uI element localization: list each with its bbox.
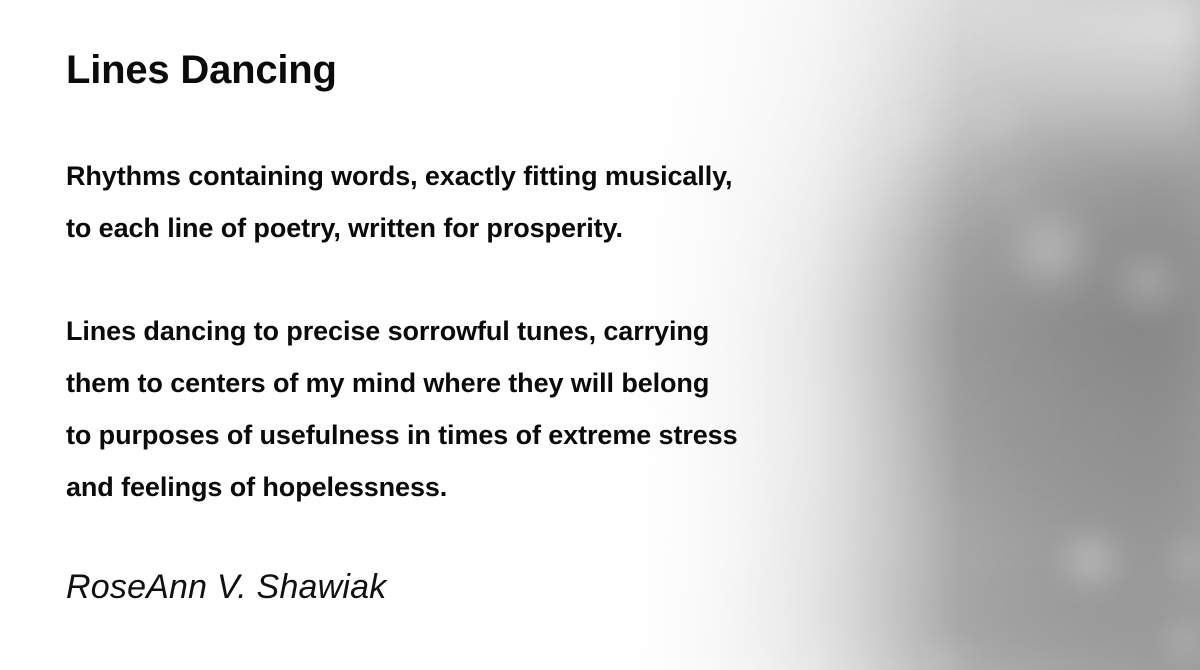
poem-line: to each line of poetry, written for pros…: [66, 202, 732, 254]
poem-line: Rhythms containing words, exactly fittin…: [66, 150, 732, 202]
page-title: Lines Dancing: [66, 48, 337, 93]
poem-image-card: Lines Dancing Rhythms containing words, …: [0, 0, 1200, 670]
poem-author-byline: RoseAnn V. Shawiak: [66, 568, 386, 607]
poem-stanza-1: Rhythms containing words, exactly fittin…: [66, 150, 732, 254]
poem-line: them to centers of my mind where they wi…: [66, 357, 738, 409]
poem-stanza-2: Lines dancing to precise sorrowful tunes…: [66, 305, 738, 513]
poem-line: to purposes of usefulness in times of ex…: [66, 409, 738, 461]
poem-line: Lines dancing to precise sorrowful tunes…: [66, 305, 738, 357]
poem-line: and feelings of hopelessness.: [66, 461, 738, 513]
